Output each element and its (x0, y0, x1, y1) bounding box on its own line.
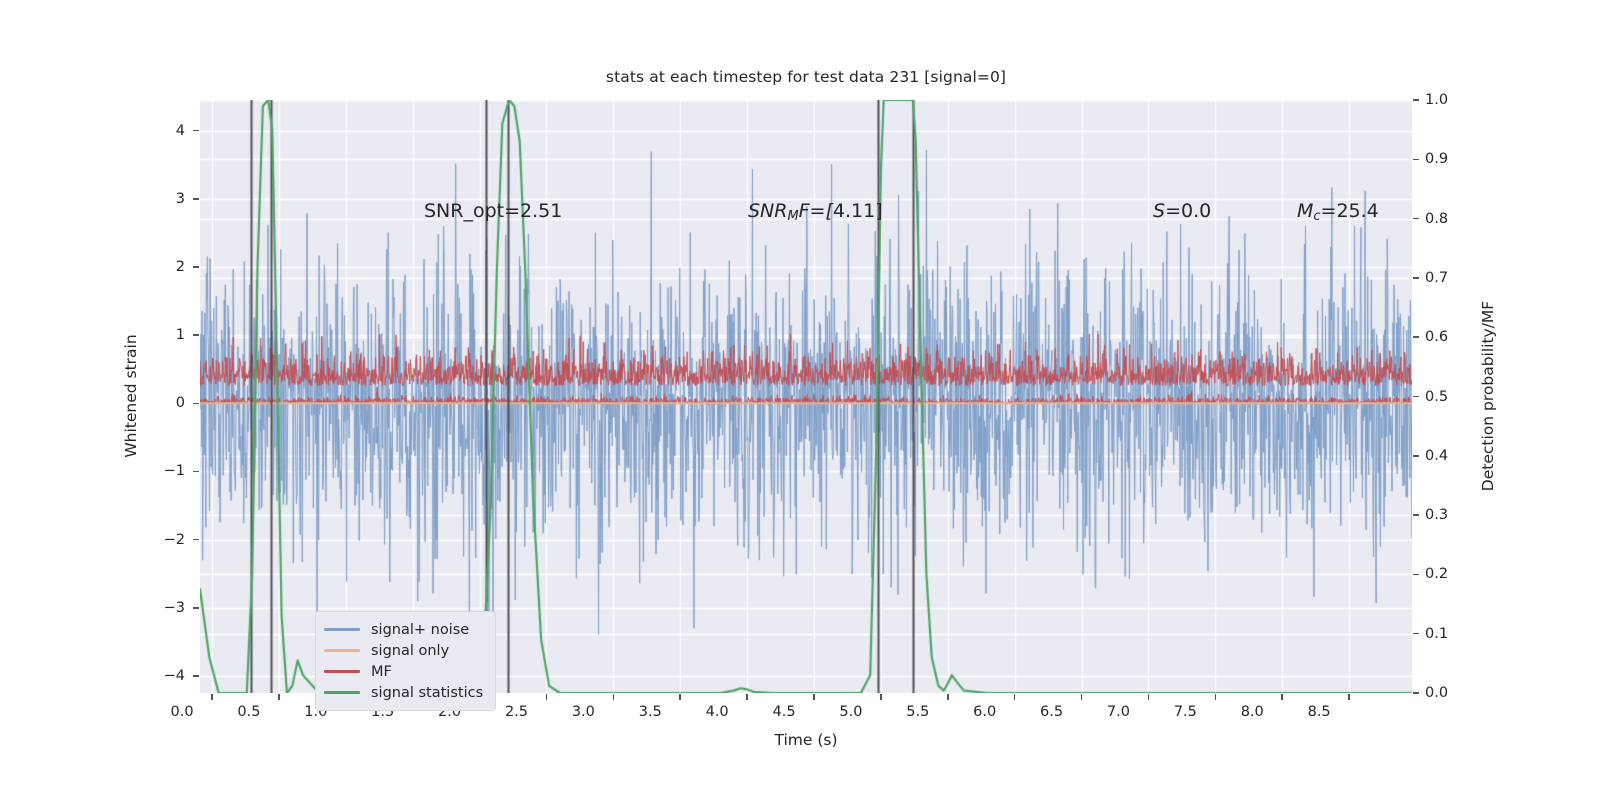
y-tick-label-right: 0.7 (1425, 270, 1475, 286)
y-tick-label-left: 3 (140, 191, 185, 207)
x-tick-mark (1281, 694, 1283, 700)
y-tick-label-left: −1 (140, 463, 185, 479)
x-tick-mark (546, 694, 548, 700)
y-tick-label-right: 1.0 (1425, 92, 1475, 108)
annotation-s-prefix: S (1153, 200, 1165, 222)
y-tick-mark-right (1413, 514, 1419, 516)
x-tick-label: 3.5 (620, 704, 680, 720)
x-tick-mark (1215, 694, 1217, 700)
plot-axes[interactable]: SNR_opt=2.51 SNRMF=[4.11] S=0.0 Mc=25.4 (200, 100, 1412, 693)
y-tick-label-left: −2 (140, 532, 185, 548)
legend-swatch-icon (324, 628, 360, 631)
y-tick-mark-right (1413, 336, 1419, 338)
y-tick-label-right: 0.9 (1425, 151, 1475, 167)
y-tick-mark-right (1413, 692, 1419, 694)
legend-item[interactable]: signal statistics (324, 682, 483, 703)
page-title: stats at each timestep for test data 231… (200, 68, 1412, 86)
annotation-mc-prefix: M (1297, 200, 1313, 222)
annotation-mc-sub: c (1313, 209, 1320, 224)
y-tick-mark-left (193, 266, 199, 268)
x-tick-label: 3.0 (553, 704, 613, 720)
annotation-s-value: 0.0 (1181, 200, 1211, 222)
annotation-snr-mf-value: 4.11 (833, 200, 875, 222)
y-tick-mark-left (193, 403, 199, 405)
annotation-snr-mf-sub: M (787, 209, 798, 224)
y-tick-mark-right (1413, 99, 1419, 101)
annotation-snr-mf-prefix: SNR (748, 200, 787, 222)
x-tick-label: 6.0 (955, 704, 1015, 720)
y-tick-label-right: 0.1 (1425, 626, 1475, 642)
y-tick-label-right: 0.8 (1425, 211, 1475, 227)
x-tick-label: 4.5 (754, 704, 814, 720)
y-axis-left-label: Whitened strain (122, 334, 140, 457)
legend-item[interactable]: MF (324, 661, 483, 682)
y-tick-mark-right (1413, 218, 1419, 220)
y-tick-mark-left (193, 334, 199, 336)
x-tick-mark (679, 694, 681, 700)
y-tick-label-right: 0.3 (1425, 507, 1475, 523)
legend[interactable]: signal+ noisesignal onlyMFsignal statist… (315, 611, 496, 711)
y-tick-label-left: 4 (140, 123, 185, 139)
x-tick-label: 5.0 (821, 704, 881, 720)
legend-label: signal+ noise (371, 622, 469, 638)
legend-swatch-icon (324, 670, 360, 673)
y-tick-label-left: −3 (140, 600, 185, 616)
x-tick-label: 8.5 (1289, 704, 1349, 720)
annotation-snr-mf: SNRMF=[4.11] (748, 202, 883, 224)
x-tick-label: 8.0 (1222, 704, 1282, 720)
y-tick-label-right: 0.4 (1425, 448, 1475, 464)
legend-label: MF (371, 664, 392, 680)
y-tick-mark-left (193, 130, 199, 132)
y-tick-mark-right (1413, 159, 1419, 161)
x-tick-mark (1081, 694, 1083, 700)
x-tick-mark (746, 694, 748, 700)
legend-label: signal only (371, 643, 449, 659)
y-tick-label-left: 1 (140, 327, 185, 343)
y-tick-mark-right (1413, 277, 1419, 279)
plot-drawing-area (200, 100, 1412, 693)
x-tick-label: 7.5 (1155, 704, 1215, 720)
annotation-mc-value: 25.4 (1336, 200, 1378, 222)
x-tick-mark (1348, 694, 1350, 700)
annotation-s: S=0.0 (1153, 202, 1211, 221)
y-tick-mark-right (1413, 455, 1419, 457)
legend-item[interactable]: signal only (324, 640, 483, 661)
annotation-snr-mf-suffix: ] (875, 200, 882, 222)
x-tick-mark (813, 694, 815, 700)
y-tick-mark-left (193, 675, 199, 677)
y-tick-label-right: 0.2 (1425, 566, 1475, 582)
y-tick-label-left: −4 (140, 668, 185, 684)
x-tick-mark (613, 694, 615, 700)
y-tick-label-right: 0.5 (1425, 389, 1475, 405)
x-axis-label: Time (s) (774, 731, 837, 749)
figure-canvas: stats at each timestep for test data 231… (0, 0, 1600, 800)
y-tick-label-right: 0.6 (1425, 329, 1475, 345)
y-tick-label-left: 0 (140, 395, 185, 411)
y-tick-label-left: 2 (140, 259, 185, 275)
y-tick-mark-right (1413, 633, 1419, 635)
x-tick-label: 0.5 (219, 704, 279, 720)
annotation-mc: Mc=25.4 (1297, 202, 1379, 224)
x-tick-mark (211, 694, 213, 700)
x-tick-label: 7.0 (1088, 704, 1148, 720)
x-tick-mark (1148, 694, 1150, 700)
x-tick-mark (1014, 694, 1016, 700)
annotation-snr-mf-mid: F=[ (799, 200, 833, 222)
y-axis-right-label: Detection probability/MF (1479, 301, 1497, 491)
x-tick-label: 4.0 (687, 704, 747, 720)
annotation-snr-opt: SNR_opt=2.51 (424, 202, 562, 221)
y-tick-mark-right (1413, 396, 1419, 398)
y-tick-mark-right (1413, 574, 1419, 576)
y-tick-mark-left (193, 198, 199, 200)
legend-swatch-icon (324, 691, 360, 694)
y-tick-mark-left (193, 539, 199, 541)
x-tick-mark (947, 694, 949, 700)
y-tick-mark-left (193, 471, 199, 473)
x-tick-label: 5.5 (888, 704, 948, 720)
y-tick-label-right: 0.0 (1425, 685, 1475, 701)
x-tick-mark (278, 694, 280, 700)
legend-swatch-icon (324, 649, 360, 652)
x-tick-label: 0.0 (152, 704, 212, 720)
x-tick-mark (880, 694, 882, 700)
x-tick-label: 6.5 (1022, 704, 1082, 720)
legend-item[interactable]: signal+ noise (324, 619, 483, 640)
legend-label: signal statistics (371, 685, 483, 701)
y-tick-mark-left (193, 607, 199, 609)
